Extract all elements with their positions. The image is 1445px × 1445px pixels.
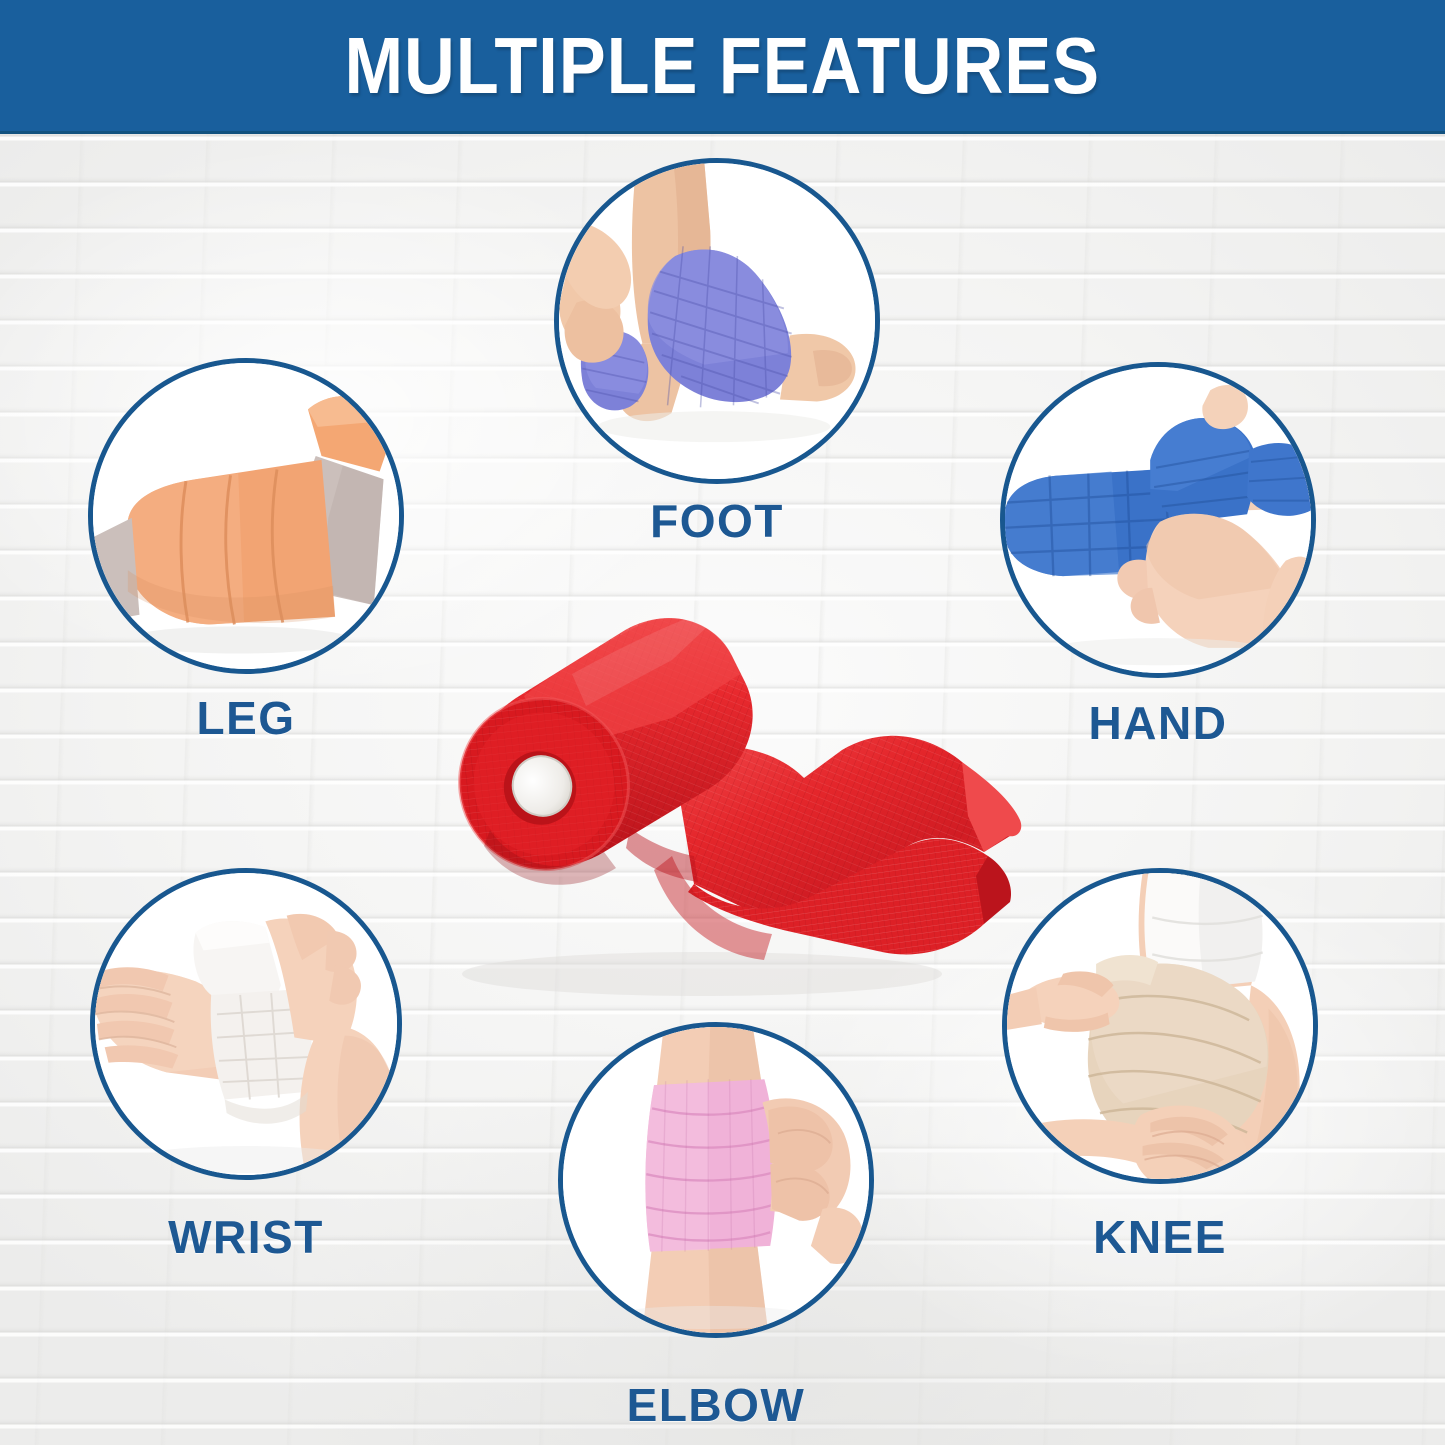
feature-circle-wrist[interactable] (90, 868, 402, 1180)
page-title: MULTIPLE FEATURES (345, 26, 1100, 106)
feature-label-knee: KNEE (1002, 1214, 1318, 1260)
wrist-wrapped-bandage-icon (95, 873, 397, 1175)
product-image-bandage-roll (372, 556, 1062, 1016)
feature-label-elbow: ELBOW (558, 1382, 874, 1428)
cohesive-bandage-roll-icon (372, 556, 1062, 1016)
infographic-canvas: MULTIPLE FEATURES (0, 0, 1445, 1445)
feature-circle-elbow[interactable] (558, 1022, 874, 1338)
feature-circle-leg[interactable] (88, 358, 404, 674)
foot-wrapped-bandage-icon (559, 163, 875, 479)
elbow-wrapped-bandage-icon (563, 1027, 869, 1333)
header-banner: MULTIPLE FEATURES (0, 0, 1445, 134)
leg-wrapped-bandage-icon (93, 363, 399, 669)
feature-circle-foot[interactable] (554, 158, 880, 484)
feature-label-wrist: WRIST (90, 1214, 402, 1260)
feature-label-foot: FOOT (554, 498, 880, 544)
feature-label-leg: LEG (88, 695, 404, 741)
